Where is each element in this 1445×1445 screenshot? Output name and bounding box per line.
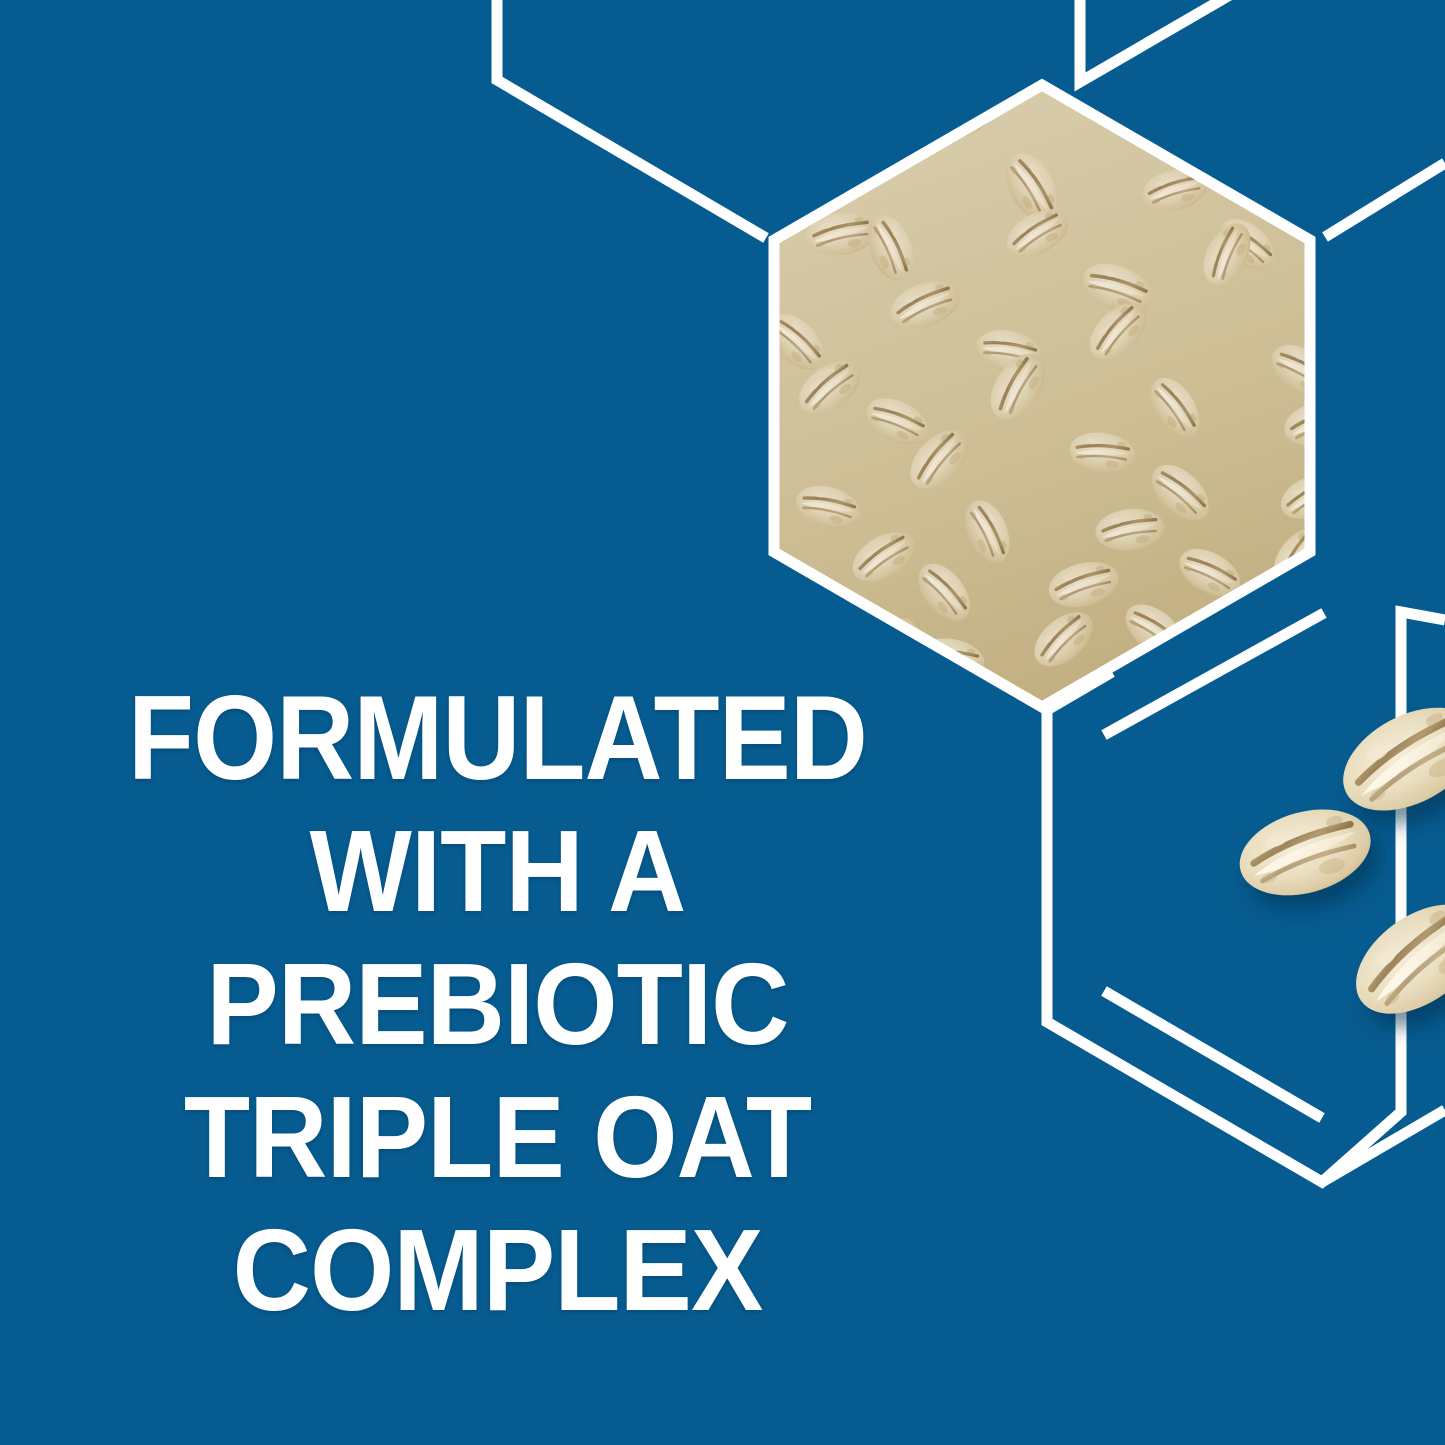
hexagon-artwork-svg (0, 0, 1445, 1445)
background-artwork (0, 0, 1445, 1445)
marketing-graphic: FORMULATED WITH A PREBIOTIC TRIPLE OAT C… (0, 0, 1445, 1445)
